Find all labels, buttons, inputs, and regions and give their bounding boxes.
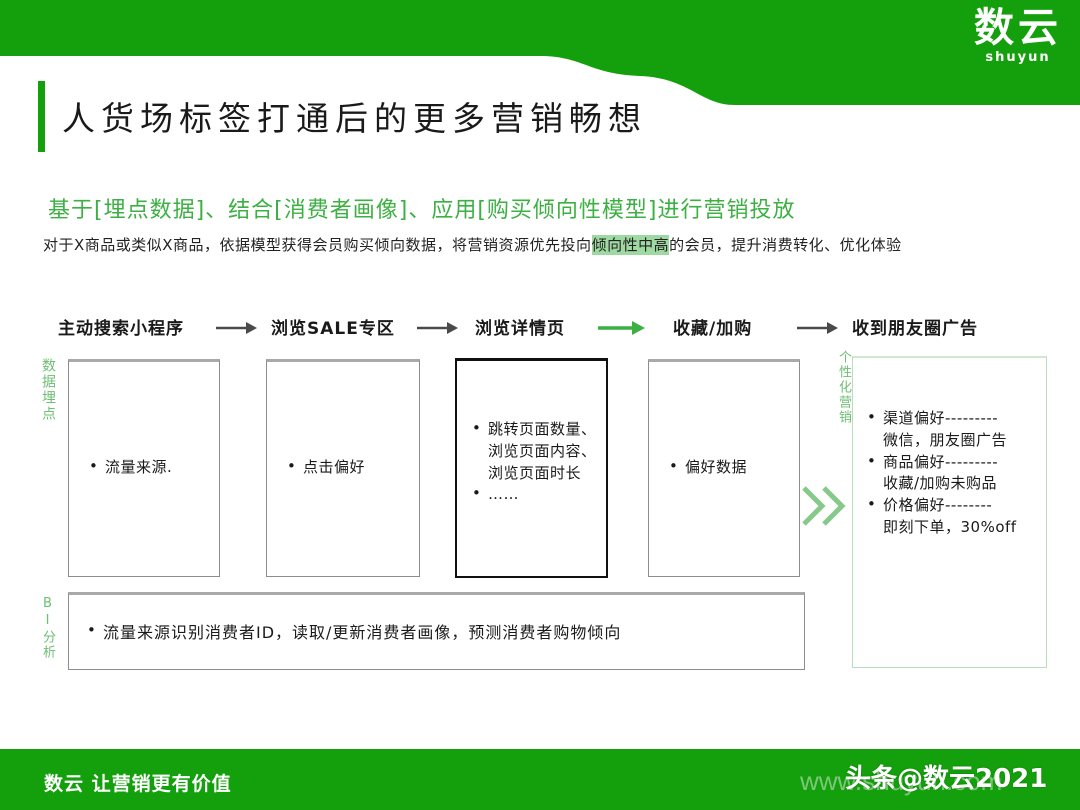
flow-box-5-list: 渠道偏好--------- 微信，朋友圈广告 商品偏好--------- 收藏/…	[865, 408, 1046, 539]
logo-sub-text: shuyun	[974, 51, 1062, 64]
flow-box-3-list: 跳转页面数量、 浏览页面内容、 浏览页面时长 ……	[470, 419, 606, 506]
list-item: 微信，朋友圈广告	[865, 430, 1046, 452]
title-accent-bar	[38, 81, 45, 152]
list-item: 偏好数据	[667, 457, 799, 479]
flow-arrow-4-icon	[797, 320, 839, 336]
double-chevron-icon	[798, 482, 850, 534]
list-item: 渠道偏好---------	[865, 408, 1046, 430]
flow-box-1: 流量来源.	[68, 359, 220, 577]
list-item: 收藏/加购未购品	[865, 473, 1046, 495]
list-item: 跳转页面数量、	[470, 419, 606, 441]
flow-box-4-list: 偏好数据	[667, 457, 799, 479]
flow-step-label-5: 收到朋友圈广告	[852, 314, 978, 339]
list-item: ……	[470, 484, 606, 506]
logo-main-text: 数云	[974, 8, 1062, 48]
list-item: 浏览页面内容、	[470, 441, 606, 463]
subtitle-headline: 基于[埋点数据]、结合[消费者画像]、应用[购买倾向性模型]进行营销投放	[48, 192, 796, 224]
bi-analysis-list: 流量来源识别消费者ID，读取/更新消费者画像，预测消费者购物倾向	[85, 621, 804, 644]
header-band: 数云 shuyun	[0, 0, 1080, 105]
flow-arrow-3-icon	[598, 320, 646, 336]
flow-step-label-1: 主动搜索小程序	[58, 314, 184, 339]
flow-arrow-1-icon	[216, 320, 258, 336]
list-item: 即刻下单，30%off	[865, 517, 1046, 539]
flow-box-3: 跳转页面数量、 浏览页面内容、 浏览页面时长 ……	[455, 358, 608, 578]
list-item: 价格偏好--------	[865, 495, 1046, 517]
rail-label-bi: BI分析	[38, 596, 57, 660]
flow-box-1-list: 流量来源.	[87, 457, 219, 479]
bi-analysis-box: 流量来源识别消费者ID，读取/更新消费者画像，预测消费者购物倾向	[68, 592, 805, 670]
subtitle-body: 对于X商品或类似X商品，依据模型获得会员购买倾向数据，将营销资源优先投向倾向性中…	[43, 234, 902, 255]
list-item: 商品偏好---------	[865, 452, 1046, 474]
flow-box-5: 渠道偏好--------- 微信，朋友圈广告 商品偏好--------- 收藏/…	[852, 356, 1047, 668]
flow-step-label-3: 浏览详情页	[475, 314, 565, 339]
flow-step-label-2: 浏览SALE专区	[271, 314, 395, 339]
flow-box-2-list: 点击偏好	[285, 457, 419, 479]
header-shape	[0, 0, 1080, 105]
subtitle-body-after: 的会员，提升消费转化、优化体验	[669, 236, 902, 254]
rail-label-personalized: 个性化营销	[834, 350, 853, 425]
flow-box-4: 偏好数据	[648, 359, 800, 577]
subtitle-body-before: 对于X商品或类似X商品，依据模型获得会员购买倾向数据，将营销资源优先投向	[43, 236, 592, 254]
flow-box-2: 点击偏好	[266, 359, 420, 577]
watermark-tag: 头条@数云2021	[845, 758, 1047, 795]
page-title: 人货场标签打通后的更多营销畅想	[62, 92, 647, 140]
rail-label-tracking: 数据埋点	[38, 358, 58, 422]
footer-slogan: 数云 让营销更有价值	[44, 769, 232, 796]
slide-canvas: 数云 shuyun 人货场标签打通后的更多营销畅想 基于[埋点数据]、结合[消费…	[0, 0, 1080, 810]
list-item: 流量来源.	[87, 457, 219, 479]
subtitle-highlight: 倾向性中高	[592, 235, 670, 255]
list-item: 点击偏好	[285, 457, 419, 479]
list-item: 流量来源识别消费者ID，读取/更新消费者画像，预测消费者购物倾向	[85, 621, 804, 644]
brand-logo: 数云 shuyun	[974, 8, 1062, 64]
list-item: 浏览页面时长	[470, 463, 606, 485]
flow-step-label-4: 收藏/加购	[673, 314, 752, 339]
flow-arrow-2-icon	[417, 320, 459, 336]
